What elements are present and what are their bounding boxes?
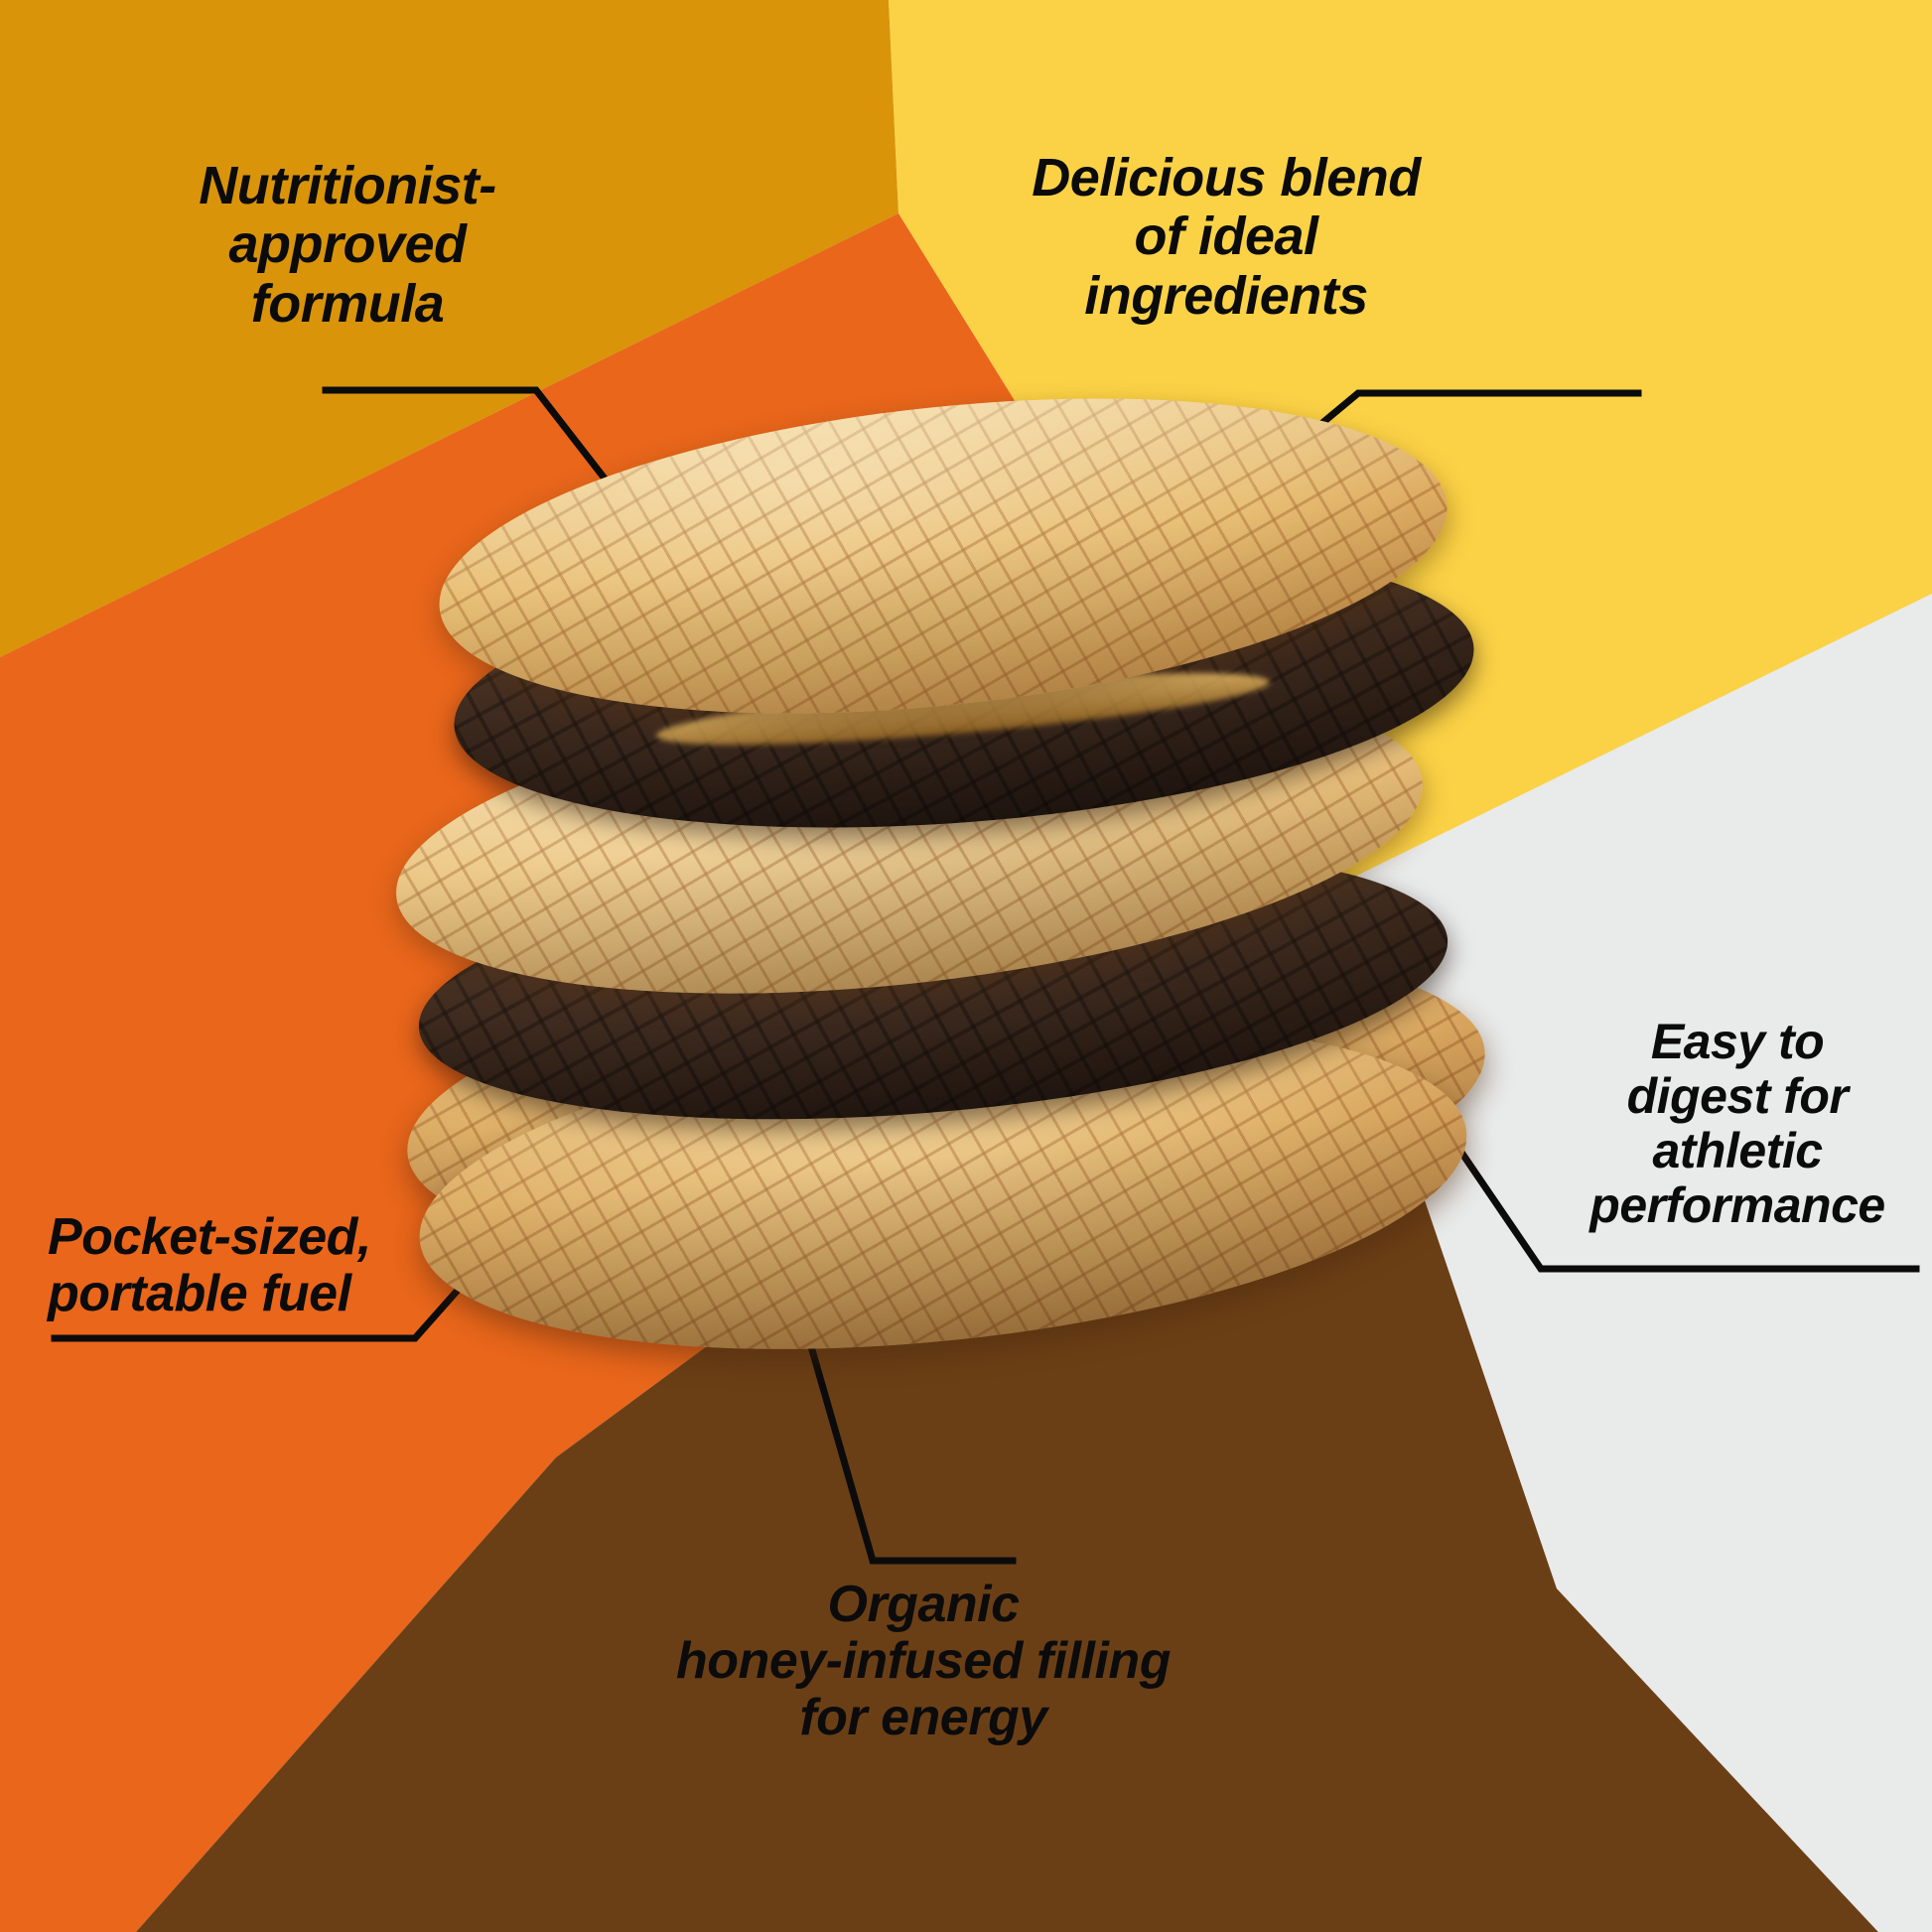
callout-label-easy-to-digest: Easy to digest for athletic performance	[1549, 1015, 1926, 1233]
infographic-canvas: Nutritionist- approved formula Delicious…	[0, 0, 1932, 1932]
callout-label-delicious-blend: Delicious blend of ideal ingredients	[993, 149, 1459, 326]
callout-label-nutritionist: Nutritionist- approved formula	[139, 157, 556, 334]
callout-label-organic-honey: Organic honey-infused filling for energy	[616, 1577, 1231, 1747]
callout-label-pocket-sized: Pocket-sized, portable fuel	[48, 1209, 445, 1322]
